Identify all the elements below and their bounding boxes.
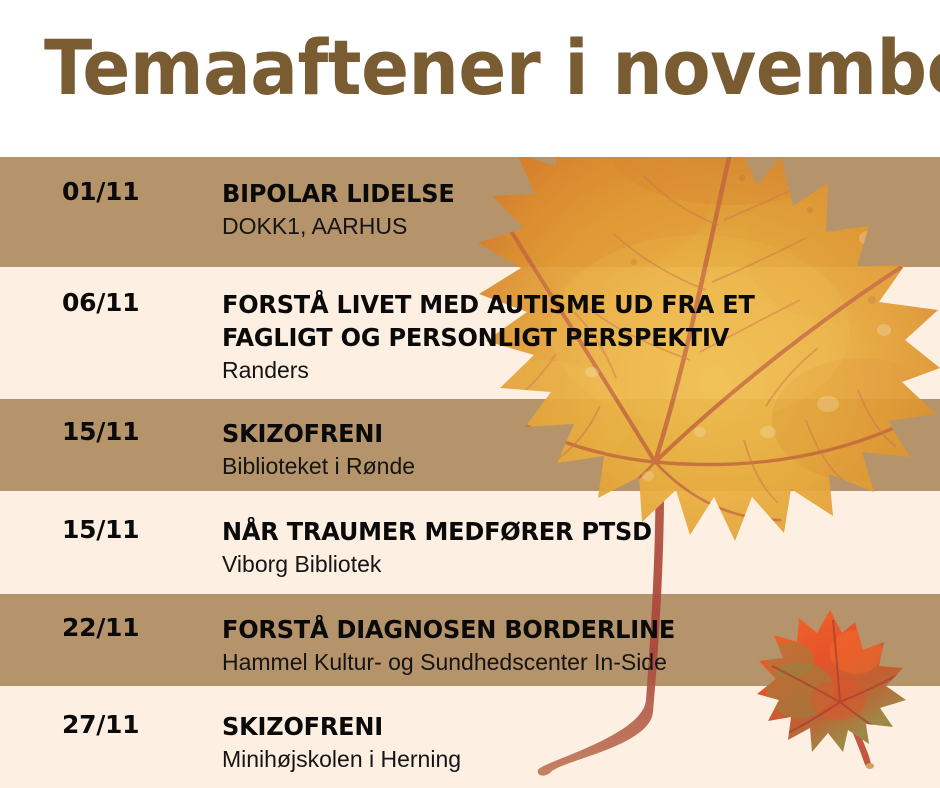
event-venue: Randers bbox=[222, 355, 922, 385]
schedule-row: 22/11FORSTÅ DIAGNOSEN BORDERLINEHammel K… bbox=[0, 613, 940, 686]
event-details: FORSTÅ LIVET MED AUTISME UD FRA ETFAGLIG… bbox=[222, 288, 922, 385]
page-title: Temaaftener i november bbox=[44, 26, 853, 110]
event-title: FORSTÅ LIVET MED AUTISME UD FRA ET bbox=[222, 288, 894, 321]
event-venue: Biblioteket i Rønde bbox=[222, 451, 922, 481]
event-title: FAGLIGT OG PERSONLIGT PERSPEKTIV bbox=[222, 321, 894, 354]
event-date: 15/11 bbox=[62, 417, 212, 447]
event-date: 22/11 bbox=[62, 613, 212, 643]
event-date: 15/11 bbox=[62, 515, 212, 545]
schedule-row: 01/11BIPOLAR LIDELSEDOKK1, AARHUS bbox=[0, 177, 940, 267]
event-venue: Viborg Bibliotek bbox=[222, 549, 922, 579]
event-details: FORSTÅ DIAGNOSEN BORDERLINEHammel Kultur… bbox=[222, 613, 922, 677]
schedule-list: 01/11BIPOLAR LIDELSEDOKK1, AARHUS06/11FO… bbox=[0, 157, 940, 788]
poster-canvas: Temaaftener i november 01/11BIPOLAR LIDE… bbox=[0, 0, 940, 788]
schedule-row: 06/11FORSTÅ LIVET MED AUTISME UD FRA ETF… bbox=[0, 288, 940, 399]
event-details: SKIZOFRENIBiblioteket i Rønde bbox=[222, 417, 922, 481]
event-details: NÅR TRAUMER MEDFØRER PTSDViborg Bibliote… bbox=[222, 515, 922, 579]
event-venue: DOKK1, AARHUS bbox=[222, 211, 922, 241]
event-title: FORSTÅ DIAGNOSEN BORDERLINE bbox=[222, 613, 894, 646]
event-title: BIPOLAR LIDELSE bbox=[222, 177, 894, 210]
poster-header: Temaaftener i november bbox=[0, 0, 940, 157]
event-title: SKIZOFRENI bbox=[222, 417, 894, 450]
event-title: NÅR TRAUMER MEDFØRER PTSD bbox=[222, 515, 894, 548]
event-date: 27/11 bbox=[62, 710, 212, 740]
event-venue: Hammel Kultur- og Sundhedscenter In-Side bbox=[222, 647, 922, 677]
event-date: 06/11 bbox=[62, 288, 212, 318]
event-details: SKIZOFRENIMinihøjskolen i Herning bbox=[222, 710, 922, 774]
event-date: 01/11 bbox=[62, 177, 212, 207]
schedule-row: 15/11NÅR TRAUMER MEDFØRER PTSDViborg Bib… bbox=[0, 515, 940, 594]
event-details: BIPOLAR LIDELSEDOKK1, AARHUS bbox=[222, 177, 922, 241]
schedule-row: 15/11SKIZOFRENIBiblioteket i Rønde bbox=[0, 417, 940, 491]
schedule-row: 27/11SKIZOFRENIMinihøjskolen i Herning bbox=[0, 710, 940, 788]
event-venue: Minihøjskolen i Herning bbox=[222, 744, 922, 774]
event-title: SKIZOFRENI bbox=[222, 710, 894, 743]
